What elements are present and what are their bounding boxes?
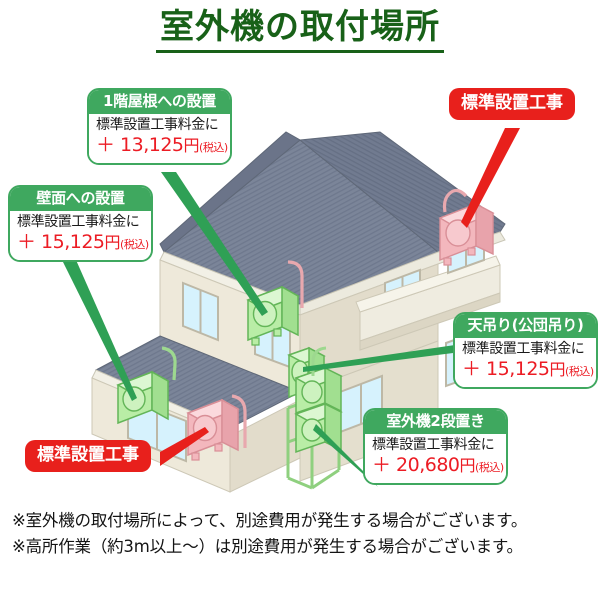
callout-ceiling-hung-yen: 円 — [550, 360, 566, 379]
callout-roof-1f-title: 1階屋根への設置 — [89, 90, 230, 114]
callout-wall-body: 標準設置工事料金に ＋ 15,125円(税込) — [10, 211, 151, 260]
callout-stacked-2tier-yen: 円 — [460, 456, 476, 475]
badge-standard-install-top[interactable]: 標準設置工事 — [449, 88, 575, 120]
callout-roof-1f-yen: 円 — [184, 136, 200, 155]
callout-stacked-2tier-title: 室外機2段置き — [365, 410, 506, 434]
callout-roof-1f-body: 標準設置工事料金に ＋ 13,125円(税込) — [89, 114, 230, 163]
callout-wall-price: ＋ 15,125円(税込) — [17, 231, 144, 255]
callout-wall-amount: ＋ 15,125 — [17, 231, 105, 253]
footnote-1: ※室外機の取付場所によって、別途費用が発生する場合がございます。 — [12, 508, 592, 534]
callout-ceiling-hung-line1: 標準設置工事料金に — [462, 341, 589, 359]
badge-standard-install-bottom[interactable]: 標準設置工事 — [25, 440, 151, 472]
callout-roof-1f-price: ＋ 13,125円(税込) — [96, 134, 223, 158]
callout-stacked-2tier-line1: 標準設置工事料金に — [372, 437, 499, 455]
callout-stacked-2tier-amount: ＋ 20,680 — [372, 454, 460, 476]
callout-ceiling-hung[interactable]: 天吊り(公団吊り) 標準設置工事料金に ＋ 15,125円(税込) — [453, 312, 598, 389]
callout-stacked-2tier-tax: (税込) — [475, 461, 504, 474]
callout-ceiling-hung-body: 標準設置工事料金に ＋ 15,125円(税込) — [455, 338, 596, 387]
callout-ceiling-hung-price: ＋ 15,125円(税込) — [462, 358, 589, 382]
callout-roof-1f-amount: ＋ 13,125 — [96, 134, 184, 156]
infographic-page: { "title": "室外機の取付場所", "colors": { "titl… — [0, 0, 600, 600]
callout-wall[interactable]: 壁面への設置 標準設置工事料金に ＋ 15,125円(税込) — [8, 185, 153, 262]
callout-stacked-2tier[interactable]: 室外機2段置き 標準設置工事料金に ＋ 20,680円(税込) — [363, 408, 508, 485]
footnotes: ※室外機の取付場所によって、別途費用が発生する場合がございます。 ※高所作業（約… — [12, 508, 592, 559]
callout-roof-1f[interactable]: 1階屋根への設置 標準設置工事料金に ＋ 13,125円(税込) — [87, 88, 232, 165]
callout-stacked-2tier-body: 標準設置工事料金に ＋ 20,680円(税込) — [365, 434, 506, 483]
callout-wall-title: 壁面への設置 — [10, 187, 151, 211]
callout-ceiling-hung-title: 天吊り(公団吊り) — [455, 314, 596, 338]
callout-roof-1f-tax: (税込) — [199, 141, 228, 154]
callout-wall-yen: 円 — [105, 233, 121, 252]
callout-wall-tax: (税込) — [120, 238, 149, 251]
callout-ceiling-hung-tax: (税込) — [565, 365, 594, 378]
footnote-2: ※高所作業（約3m以上〜）は別途費用が発生する場合がございます。 — [12, 534, 592, 560]
callout-stacked-2tier-price: ＋ 20,680円(税込) — [372, 454, 499, 478]
callout-ceiling-hung-amount: ＋ 15,125 — [462, 358, 550, 380]
callout-roof-1f-line1: 標準設置工事料金に — [96, 117, 223, 135]
callout-wall-line1: 標準設置工事料金に — [17, 214, 144, 232]
